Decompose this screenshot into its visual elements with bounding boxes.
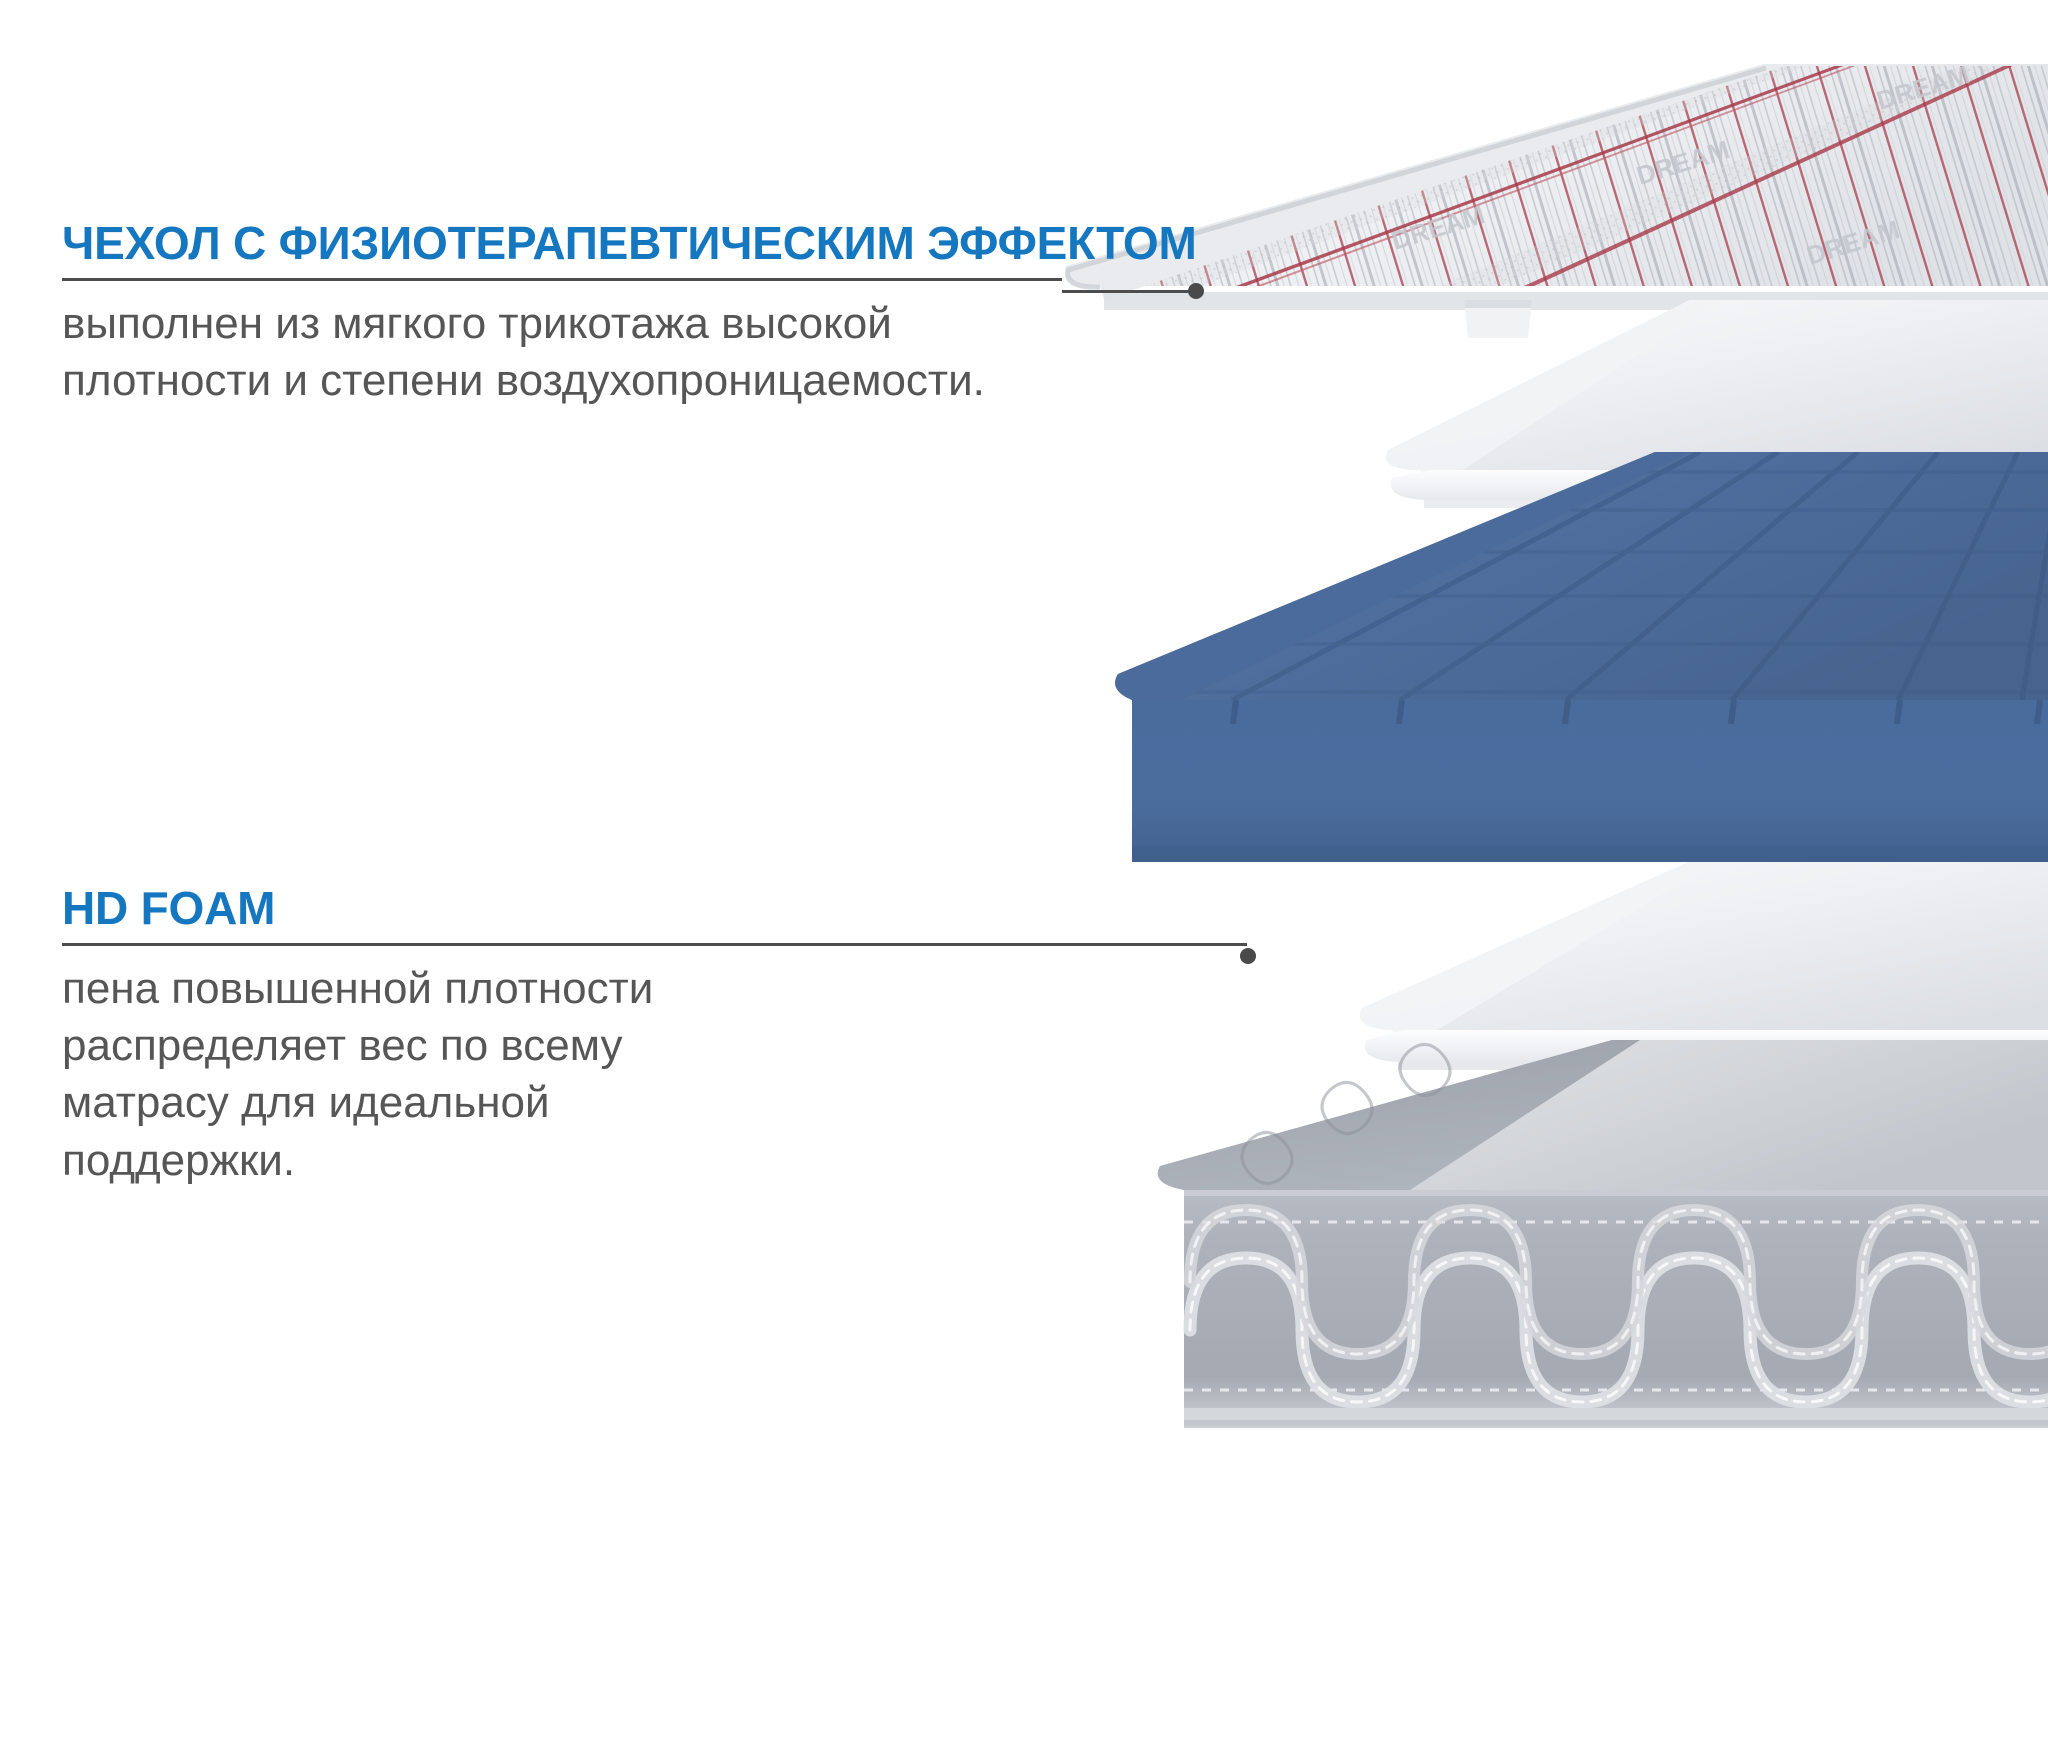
- callout-cover-rule: [62, 278, 1062, 281]
- callout-hd-foam-body: пена повышенной плотности распределяет в…: [62, 960, 1247, 1189]
- leader-line-cover: [1062, 290, 1202, 293]
- layer-hd-foam: [1110, 452, 2048, 862]
- leader-dot-cover: [1188, 283, 1204, 299]
- layer-white-foam-lower: [1360, 862, 2048, 1070]
- layer-spring-base: [1158, 1040, 2048, 1428]
- callout-cover-body: выполнен из мягкого трикотажа высокой пл…: [62, 295, 1062, 409]
- infographic-canvas: DREAM DREAM DREAM DREAM: [0, 0, 2048, 1757]
- layer-cover: DREAM DREAM DREAM DREAM: [1066, 59, 2048, 338]
- callout-cover: ЧЕХОЛ С ФИЗИОТЕРАПЕВТИЧЕСКИМ ЭФФЕКТОМ вы…: [62, 220, 1062, 409]
- callout-hd-foam-heading: HD FOAM: [62, 885, 1247, 931]
- callout-cover-heading: ЧЕХОЛ С ФИЗИОТЕРАПЕВТИЧЕСКИМ ЭФФЕКТОМ: [62, 220, 1062, 266]
- callout-hd-foam-rule: [62, 943, 1247, 946]
- callout-hd-foam: HD FOAM пена повышенной плотности распре…: [62, 885, 1247, 1189]
